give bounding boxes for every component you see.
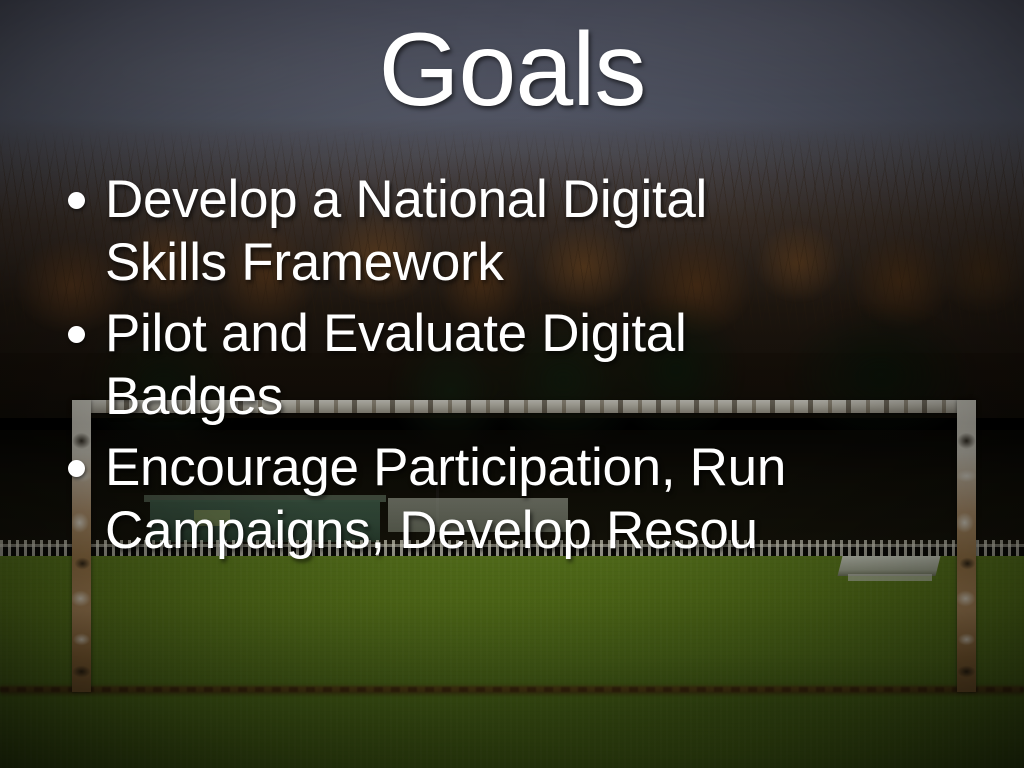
- list-item: Encourage Participation, Run Campaigns, …: [52, 436, 1000, 562]
- list-item: Develop a National Digital Skills Framew…: [52, 168, 1000, 294]
- slide-title: Goals: [0, 18, 1024, 122]
- bullet-list: Develop a National Digital Skills Framew…: [52, 168, 1000, 570]
- list-item: Pilot and Evaluate Digital Badges: [52, 302, 1000, 428]
- bullet-dot-icon: [68, 460, 85, 477]
- bullet-dot-icon: [68, 192, 85, 209]
- bullet-text: Pilot and Evaluate Digital Badges: [105, 302, 1000, 428]
- bullet-text: Encourage Participation, Run Campaigns, …: [105, 436, 1000, 562]
- bullet-text: Develop a National Digital Skills Framew…: [105, 168, 1000, 294]
- slide-content: Goals Develop a National Digital Skills …: [0, 0, 1024, 768]
- bullet-dot-icon: [68, 326, 85, 343]
- presentation-slide: Goals Develop a National Digital Skills …: [0, 0, 1024, 768]
